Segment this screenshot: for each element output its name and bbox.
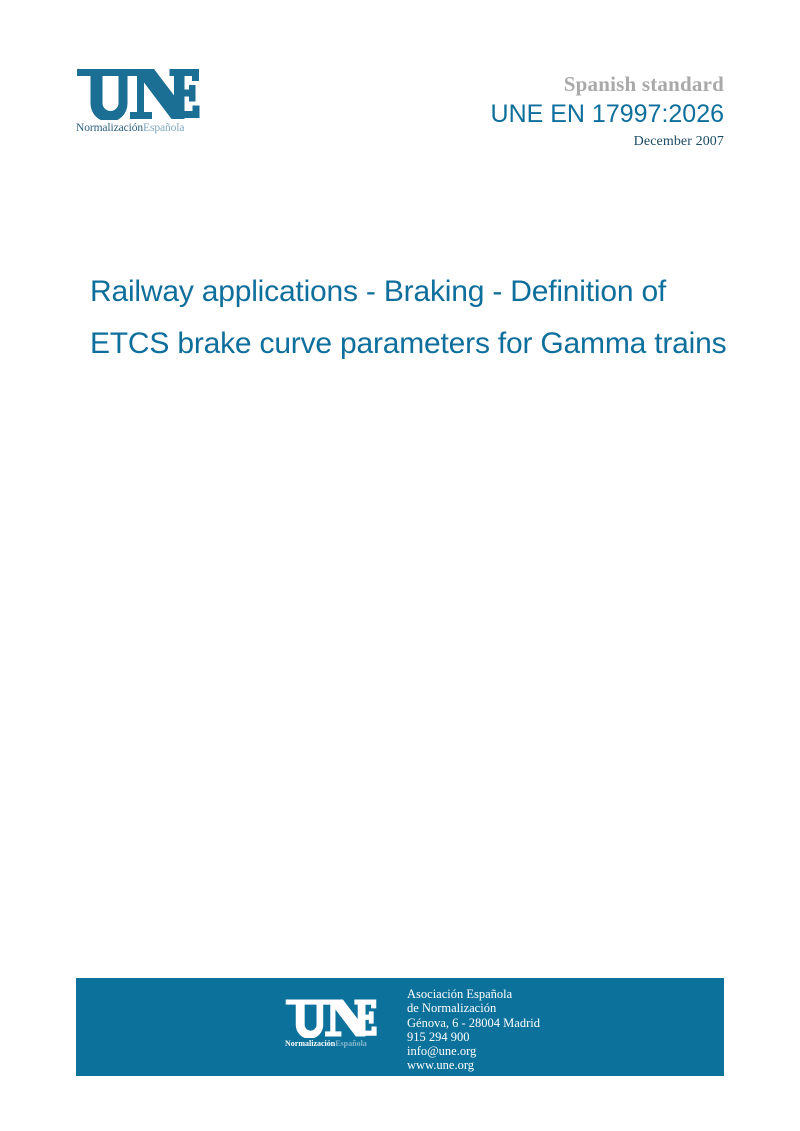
footer-contact-block: Asociación Española de Normalización Gén… [407, 984, 540, 1073]
footer-une-logo: NormalizaciónEspañola [285, 984, 381, 1048]
une-wordmark-icon [76, 68, 200, 120]
une-logo-tagline: NormalizaciónEspañola [76, 123, 206, 135]
une-wordmark-icon [285, 998, 377, 1038]
page-header: NormalizaciónEspañola Spanish standard U… [0, 0, 800, 190]
footer-content: NormalizaciónEspañola Asociación Español… [285, 984, 540, 1073]
publication-date: December 2007 [491, 135, 724, 149]
document-page: NormalizaciónEspañola Spanish standard U… [0, 0, 800, 1131]
standard-reference: UNE EN 17997:2026 [491, 102, 724, 127]
footer-website[interactable]: www.une.org [407, 1058, 540, 1072]
footer-phone: 915 294 900 [407, 1030, 540, 1044]
standard-identification: Spanish standard UNE EN 17997:2026 Decem… [491, 74, 724, 149]
document-title: Railway applications - Braking - Definit… [90, 266, 800, 370]
une-logo-tagline-secondary: Española [143, 122, 184, 134]
footer-contact-line: de Normalización [407, 1001, 540, 1015]
footer-email[interactable]: info@une.org [407, 1044, 540, 1058]
footer-logo-tagline-primary: Normalización [285, 1039, 335, 1048]
footer-contact-line: Asociación Española [407, 987, 540, 1001]
une-logo: NormalizaciónEspañola [76, 68, 206, 135]
document-title-line-1: Railway applications - Braking - Definit… [90, 266, 800, 318]
une-logo-tagline-primary: Normalización [76, 122, 143, 134]
footer-contact-line: Génova, 6 - 28004 Madrid [407, 1016, 540, 1030]
footer-logo-tagline-secondary: Española [335, 1039, 367, 1048]
standard-kind-label: Spanish standard [491, 74, 724, 95]
footer-logo-tagline: NormalizaciónEspañola [285, 1040, 381, 1048]
document-title-line-2: ETCS brake curve parameters for Gamma tr… [90, 318, 800, 370]
footer-banner: NormalizaciónEspañola Asociación Español… [76, 978, 724, 1076]
